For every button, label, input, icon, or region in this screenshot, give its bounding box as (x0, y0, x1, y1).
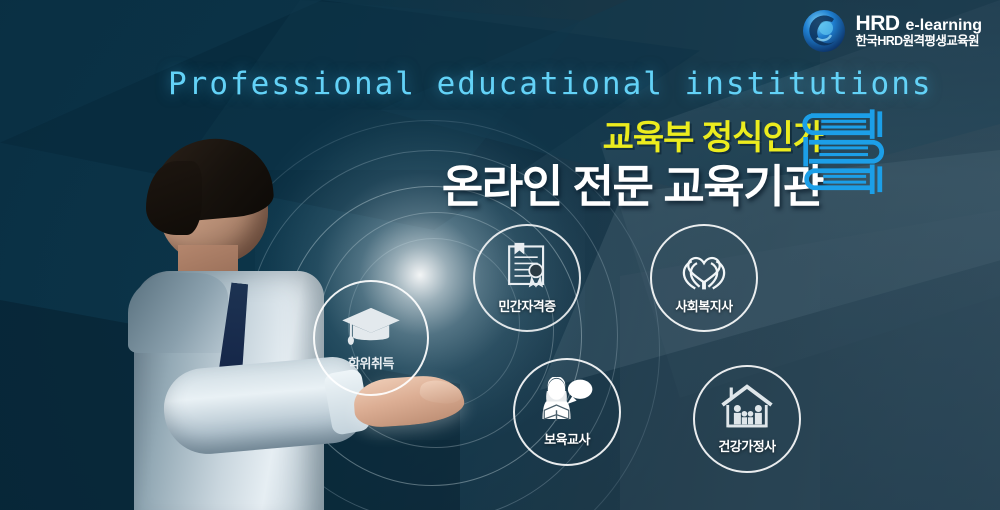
hands-holding-heart-icon (676, 242, 732, 293)
person-hair-side (146, 161, 202, 235)
logo-brand-text: HRD (856, 13, 900, 34)
brand-logo[interactable]: HRD e-learning 한국HRD원격평생교육원 (801, 8, 982, 54)
graduation-cap-icon (340, 305, 402, 351)
feature-label: 민간자격증 (498, 296, 555, 315)
promo-banner: HRD e-learning 한국HRD원격평생교육원 Professional… (0, 0, 1000, 510)
feature-circle-healthy-family[interactable]: 건강가정사 (693, 365, 801, 473)
logo-product-text: e-learning (906, 18, 982, 34)
feature-circle-childcare-teacher[interactable]: 보육교사 (513, 358, 621, 466)
eyebrow-text: Professional educational institutions (168, 66, 933, 102)
feature-circle-social-worker[interactable]: 사회복지사 (650, 224, 758, 332)
page-title: 온라인 전문 교육기관 (442, 150, 823, 215)
feature-circle-certificate[interactable]: 민간자격증 (473, 224, 581, 332)
hrd-swirl-logo-icon (801, 8, 847, 54)
house-with-family-icon (719, 384, 775, 433)
stacked-books-icon (800, 108, 895, 203)
teacher-with-book-speech-icon (539, 377, 595, 426)
feature-label: 건강가정사 (718, 436, 775, 455)
certificate-document-icon (502, 241, 552, 293)
feature-circle-degree[interactable]: 학위취득 (313, 280, 429, 396)
feature-label: 사회복지사 (675, 296, 732, 315)
logo-korean-name: 한국HRD원격평생교육원 (856, 35, 982, 49)
feature-label: 보육교사 (544, 429, 590, 448)
person-shoulder (128, 273, 228, 353)
feature-label: 학위취득 (348, 353, 394, 372)
